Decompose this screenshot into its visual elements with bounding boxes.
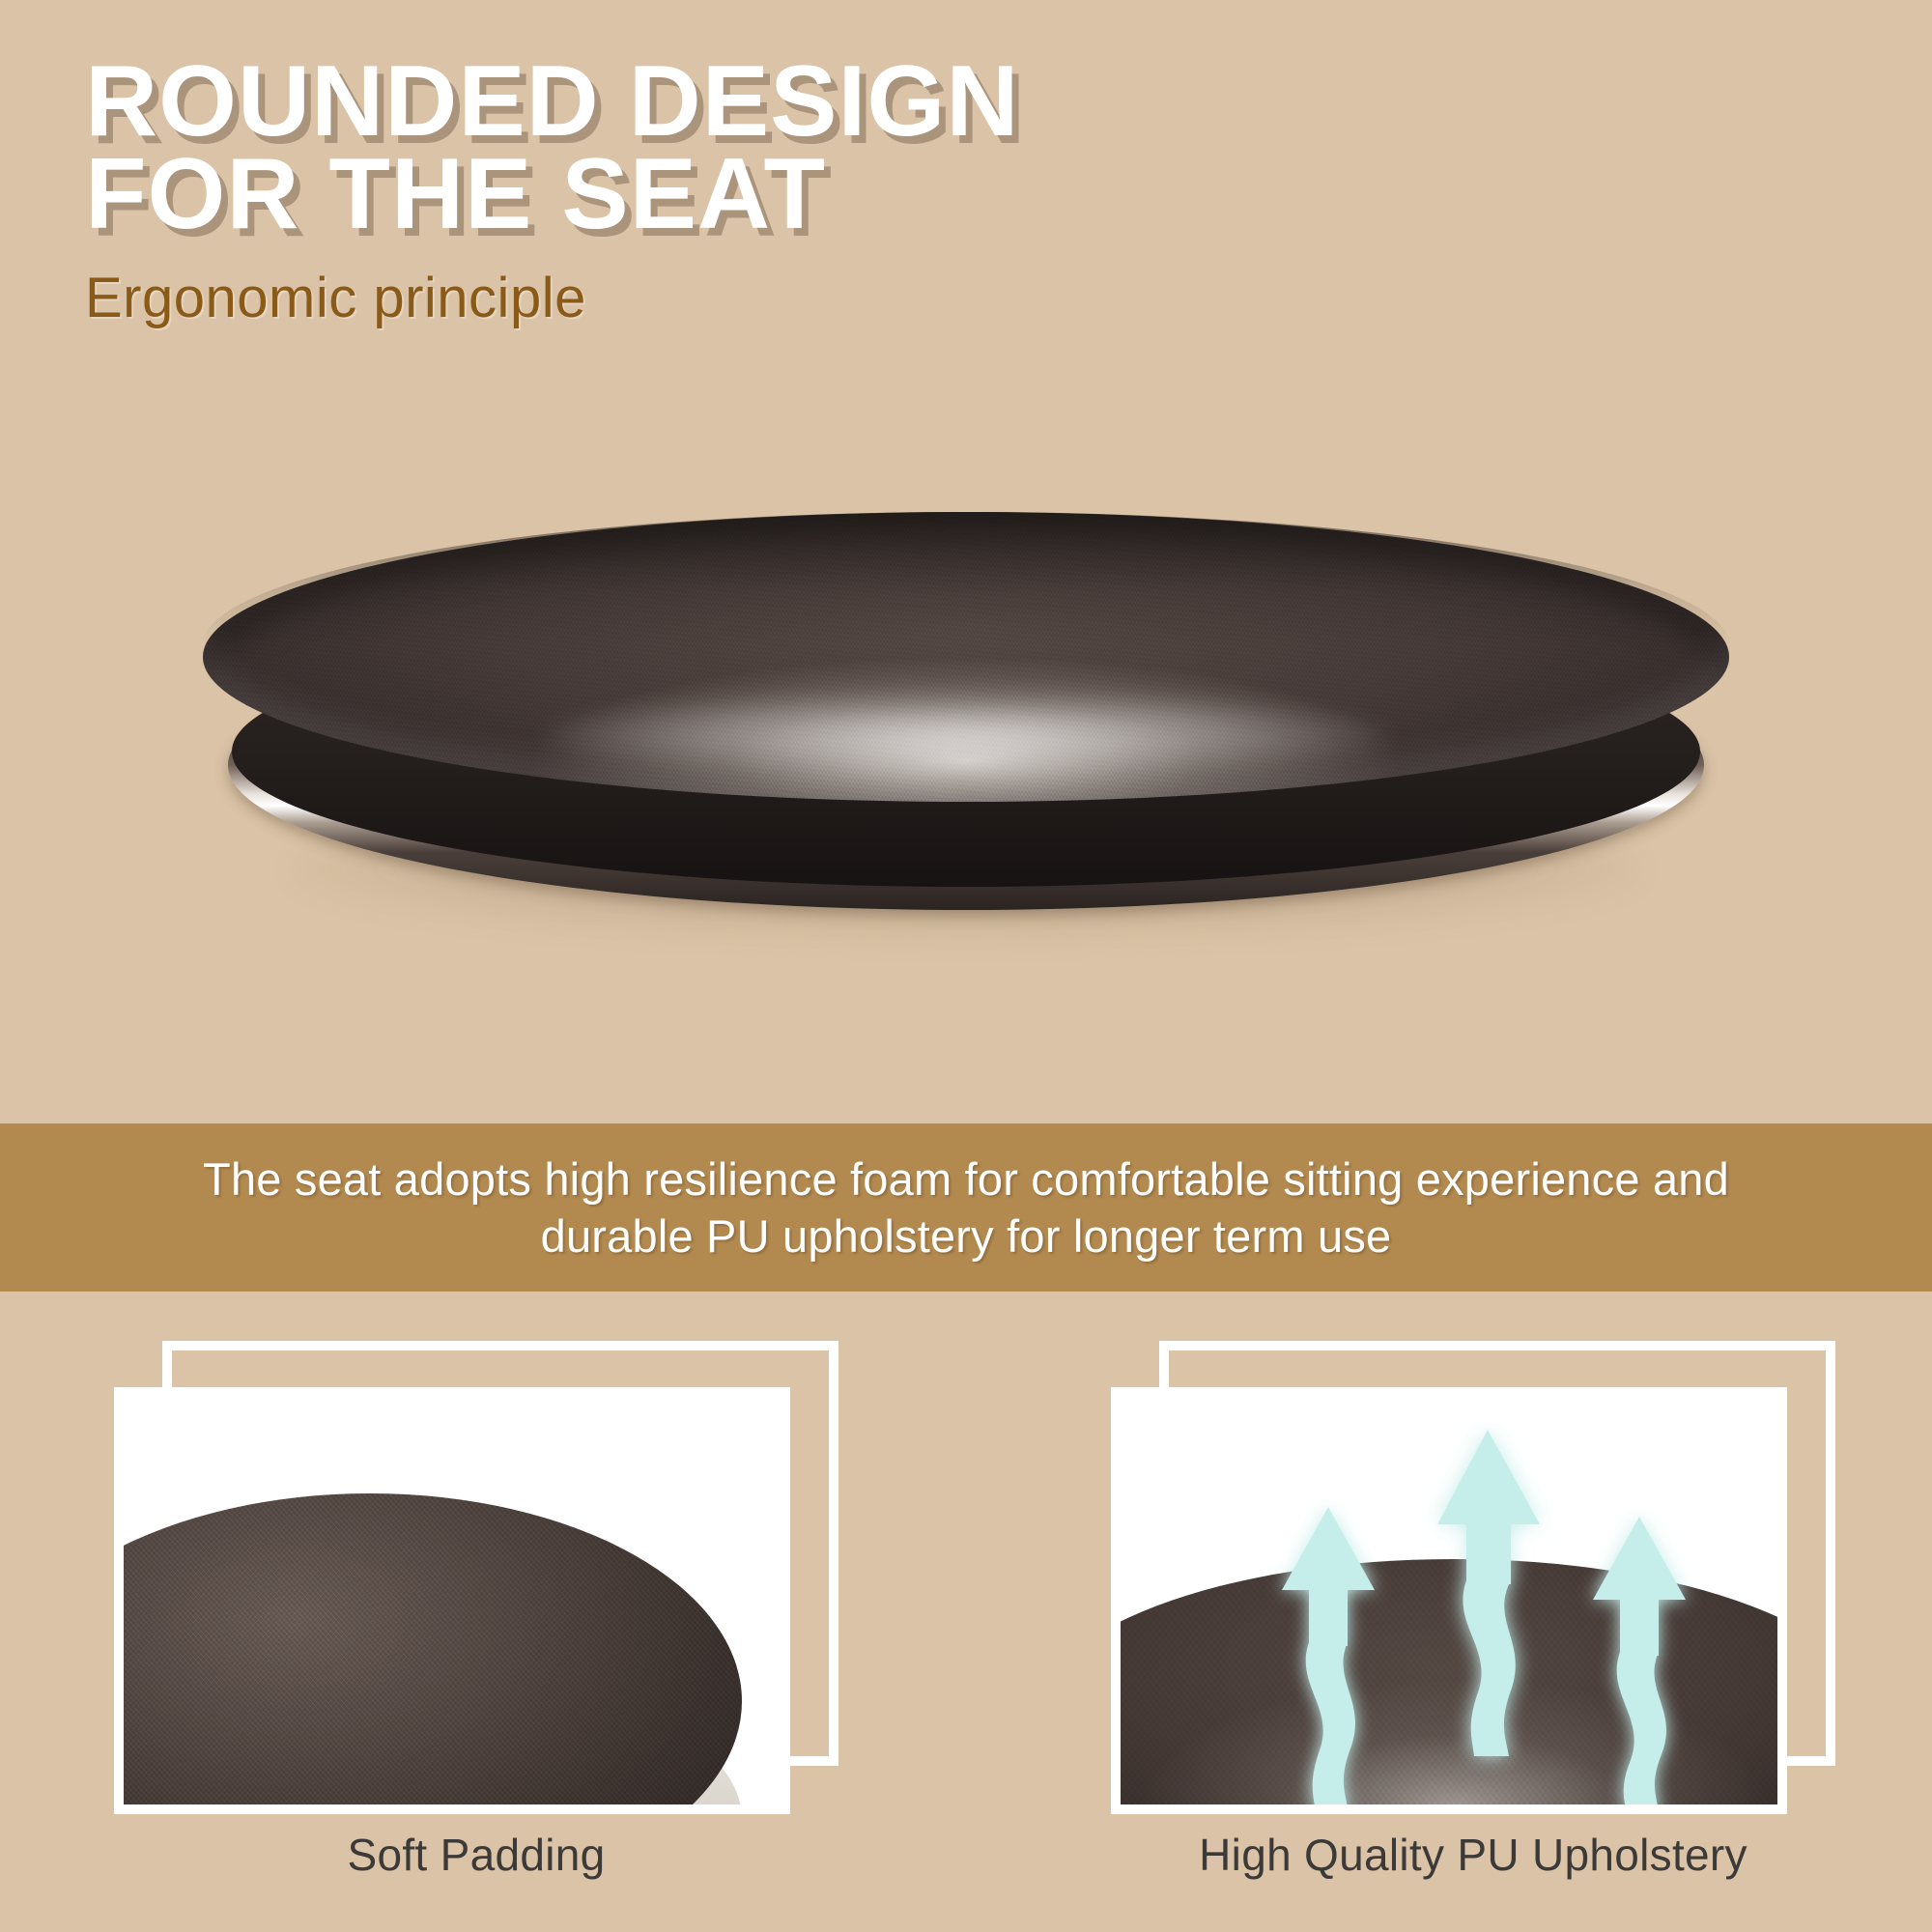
feature-card-soft-padding xyxy=(114,1341,838,1814)
feature-banner: The seat adopts high resilience foam for… xyxy=(0,1123,1932,1292)
pu-upholstery-photo xyxy=(1121,1397,1777,1804)
seat-highlight-glint xyxy=(539,692,1394,779)
page-title: ROUNDED DESIGN FOR THE SEAT xyxy=(85,56,1341,241)
card-photo-mat xyxy=(1111,1387,1787,1814)
soft-padding-photo xyxy=(124,1397,781,1804)
seat-top-shading xyxy=(203,512,1729,645)
airflow-arrow-right xyxy=(1567,1511,1712,1804)
seat-cushion-dome xyxy=(203,512,1729,802)
title-block: ROUNDED DESIGN FOR THE SEAT Ergonomic pr… xyxy=(85,56,1341,330)
card-caption-pu-upholstery: High Quality PU Upholstery xyxy=(1111,1829,1835,1881)
feature-banner-text: The seat adopts high resilience foam for… xyxy=(145,1151,1787,1264)
airflow-arrow-center xyxy=(1410,1424,1565,1791)
hero-section: ROUNDED DESIGN FOR THE SEAT Ergonomic pr… xyxy=(0,0,1932,1123)
airflow-arrow-left xyxy=(1256,1501,1401,1804)
card-photo-mat xyxy=(114,1387,790,1814)
feature-card-pu-upholstery xyxy=(1111,1341,1835,1814)
page-subtitle: Ergonomic principle xyxy=(85,266,1341,330)
card-caption-soft-padding: Soft Padding xyxy=(114,1829,838,1881)
leather-cushion-top xyxy=(124,1493,742,1804)
hero-seat-image xyxy=(174,512,1758,918)
product-infographic: ROUNDED DESIGN FOR THE SEAT Ergonomic pr… xyxy=(0,0,1932,1932)
feature-cards-row: Soft Padding High Quality PU Upholstery xyxy=(0,1292,1932,1932)
